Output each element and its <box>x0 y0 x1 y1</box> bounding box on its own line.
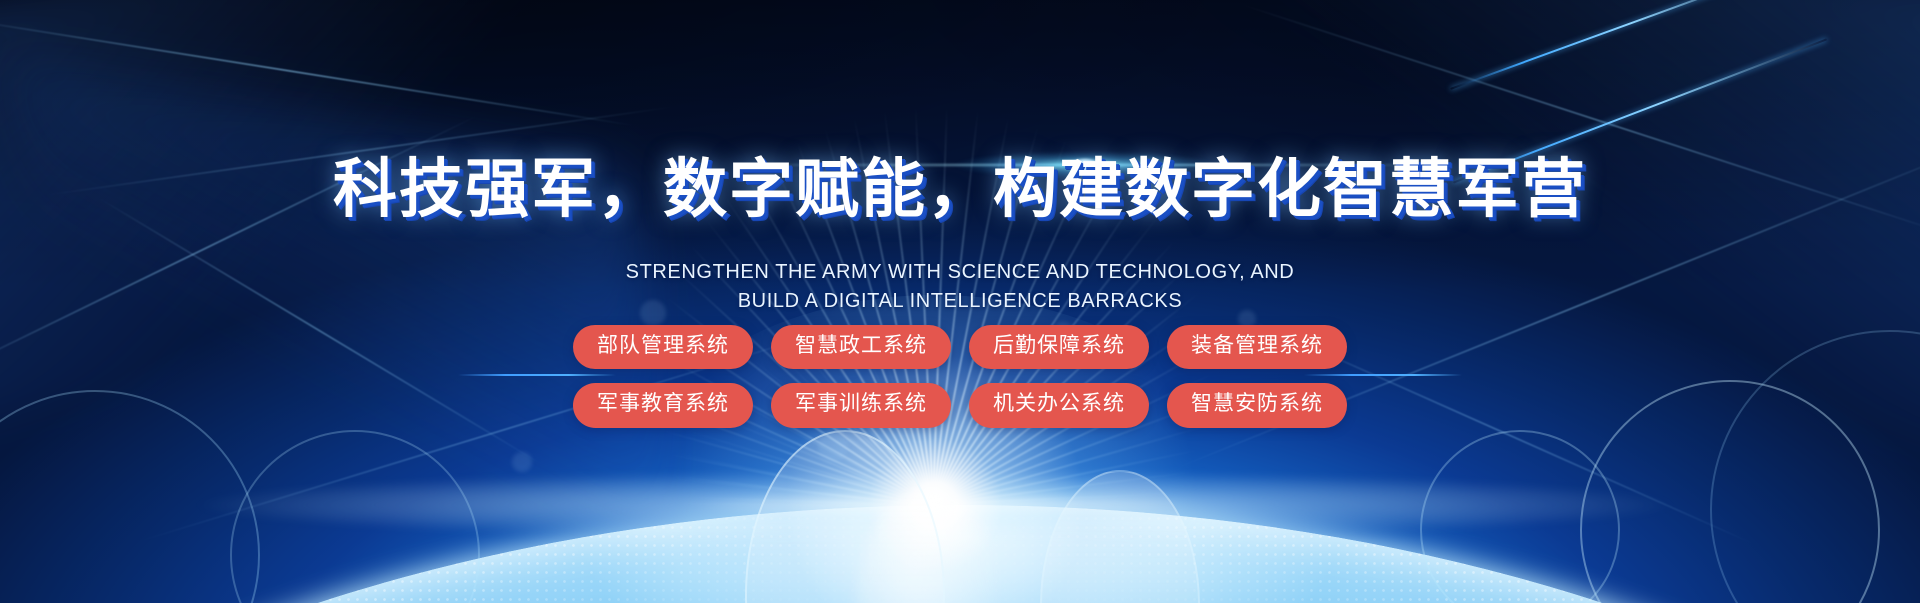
system-tag[interactable]: 智慧政工系统 <box>771 325 951 369</box>
system-tag-row-1: 部队管理系统智慧政工系统后勤保障系统装备管理系统 <box>573 325 1347 369</box>
system-tag[interactable]: 机关办公系统 <box>969 383 1149 427</box>
subtitle-line-2: BUILD A DIGITAL INTELLIGENCE BARRACKS <box>0 287 1920 316</box>
system-tag[interactable]: 部队管理系统 <box>573 325 753 369</box>
system-tag-row-2: 军事教育系统军事训练系统机关办公系统智慧安防系统 <box>573 383 1347 427</box>
system-tag-group: 部队管理系统智慧政工系统后勤保障系统装备管理系统 军事教育系统军事训练系统机关办… <box>0 325 1920 428</box>
system-tag[interactable]: 军事教育系统 <box>573 383 753 427</box>
page-subtitle: STRENGTHEN THE ARMY WITH SCIENCE AND TEC… <box>0 258 1920 316</box>
subtitle-line-1: STRENGTHEN THE ARMY WITH SCIENCE AND TEC… <box>0 258 1920 287</box>
system-tag[interactable]: 军事训练系统 <box>771 383 951 427</box>
system-tag[interactable]: 后勤保障系统 <box>969 325 1149 369</box>
system-tag[interactable]: 装备管理系统 <box>1167 325 1347 369</box>
page-title: 科技强军，数字赋能，构建数字化智慧军营 <box>0 138 1920 230</box>
hero-banner: 科技强军，数字赋能，构建数字化智慧军营 STRENGTHEN THE ARMY … <box>0 0 1920 603</box>
system-tag[interactable]: 智慧安防系统 <box>1167 383 1347 427</box>
